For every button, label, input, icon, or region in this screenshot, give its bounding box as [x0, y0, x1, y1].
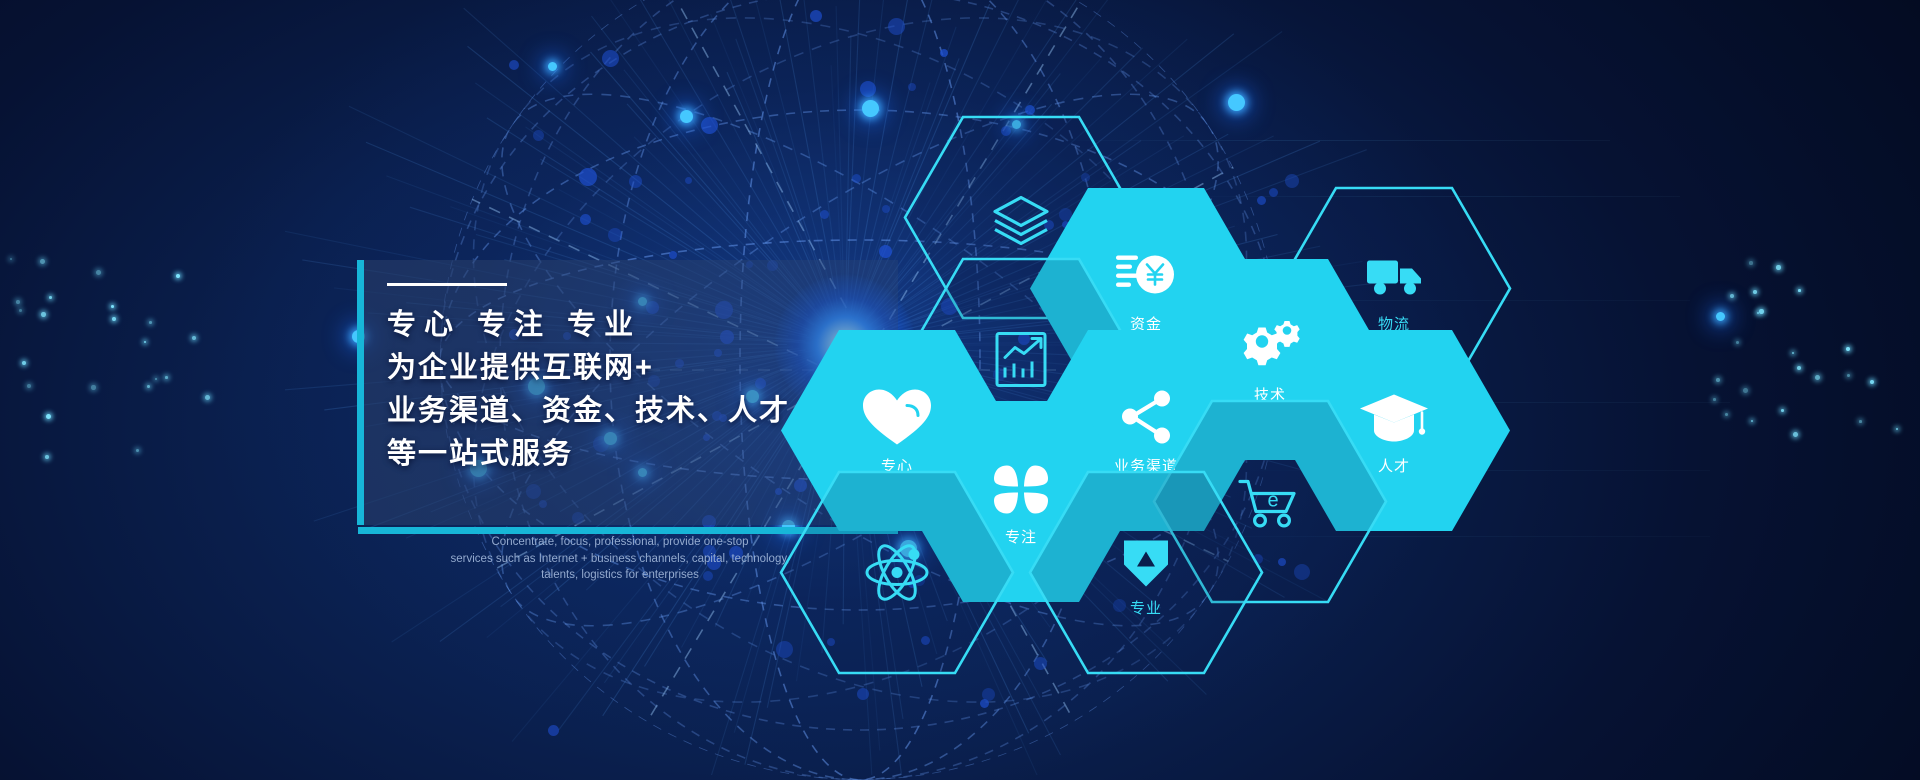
hexagon-atom[interactable]: [781, 472, 1013, 673]
svg-text:e: e: [1267, 490, 1278, 512]
hexagon-label-pro: 专业: [1030, 597, 1262, 618]
hexagon-cluster: 资金 物流: [0, 0, 1920, 780]
hero-banner: 专心 专注 专业 为企业提供互联网+ 业务渠道、资金、技术、人才、物流 等一站式…: [0, 0, 1920, 780]
hexagon-pro[interactable]: 专业: [1030, 472, 1262, 673]
